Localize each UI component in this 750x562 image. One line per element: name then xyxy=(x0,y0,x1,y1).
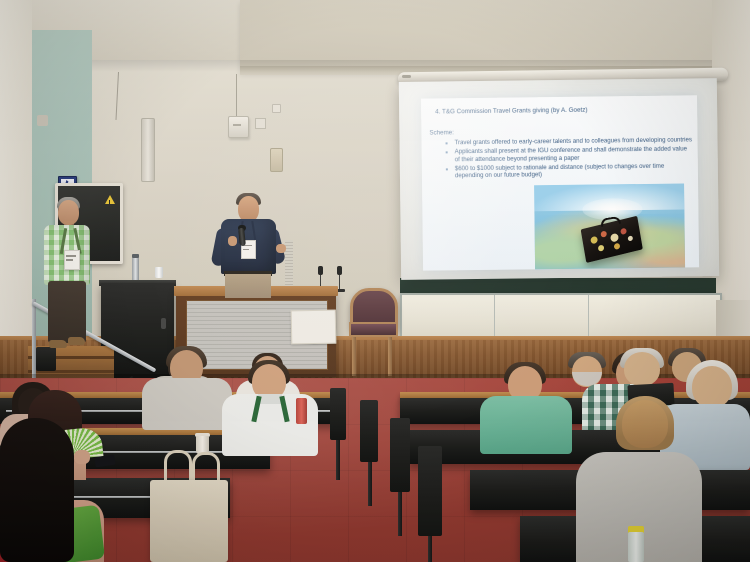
canvas-tote-bag[interactable] xyxy=(150,480,228,562)
column-speaker-icon xyxy=(141,118,155,182)
shoe xyxy=(68,337,85,345)
mic-head xyxy=(337,266,342,275)
wall-socket-icon xyxy=(255,118,266,129)
cabinet-handle[interactable] xyxy=(161,318,166,329)
board-divider xyxy=(588,295,589,339)
mic-head xyxy=(318,266,323,275)
detector-led xyxy=(233,124,241,126)
table-microphone[interactable] xyxy=(337,266,345,292)
water-bottle[interactable] xyxy=(628,532,644,562)
projection-screen: 4. T&G Commission Travel Grants giving (… xyxy=(399,78,719,280)
sensor-icon xyxy=(272,104,281,113)
bench-leg xyxy=(398,486,402,536)
audience-head xyxy=(622,400,668,448)
cup[interactable] xyxy=(155,267,163,278)
chair-leg xyxy=(388,332,392,376)
hand xyxy=(228,236,237,246)
chair-leg xyxy=(352,332,356,376)
badge-text-line xyxy=(243,249,249,250)
bench-end xyxy=(360,400,378,462)
warning-mark xyxy=(109,200,110,204)
shoe xyxy=(49,340,67,348)
bottle-cap xyxy=(132,254,139,258)
no-smoking-sign xyxy=(291,310,337,345)
cable xyxy=(236,74,237,118)
left-wall-return xyxy=(0,0,32,370)
water-bottle[interactable] xyxy=(296,398,307,424)
waste-bin xyxy=(36,347,56,371)
audience-member xyxy=(480,396,572,454)
trousers xyxy=(48,281,86,343)
hand xyxy=(74,450,90,464)
bench-leg xyxy=(336,436,340,480)
hair xyxy=(0,418,74,562)
warning-triangle-icon xyxy=(105,195,115,204)
bench-end xyxy=(390,418,410,492)
wall-bracket-icon xyxy=(37,115,48,126)
board-divider xyxy=(494,295,495,339)
collar xyxy=(258,394,282,404)
mic-base xyxy=(337,289,345,292)
chair-seat xyxy=(349,322,398,337)
audience-head xyxy=(692,366,732,408)
bench-end xyxy=(330,388,346,440)
audience-member xyxy=(142,378,232,430)
badge-text-line xyxy=(66,255,76,257)
hand xyxy=(276,244,286,253)
bench-end xyxy=(418,446,442,536)
smoke-detector-icon xyxy=(228,116,249,138)
lecture-hall-photo: 4. T&G Commission Travel Grants giving (… xyxy=(0,0,750,562)
mic-stem xyxy=(339,275,341,289)
light-switch-icon[interactable] xyxy=(270,148,283,172)
screen-glare xyxy=(399,78,719,280)
bench-leg xyxy=(368,458,372,506)
roller-cap xyxy=(402,75,411,78)
trousers xyxy=(225,274,271,298)
badge-text-line xyxy=(66,259,73,261)
audience-head xyxy=(624,352,660,386)
